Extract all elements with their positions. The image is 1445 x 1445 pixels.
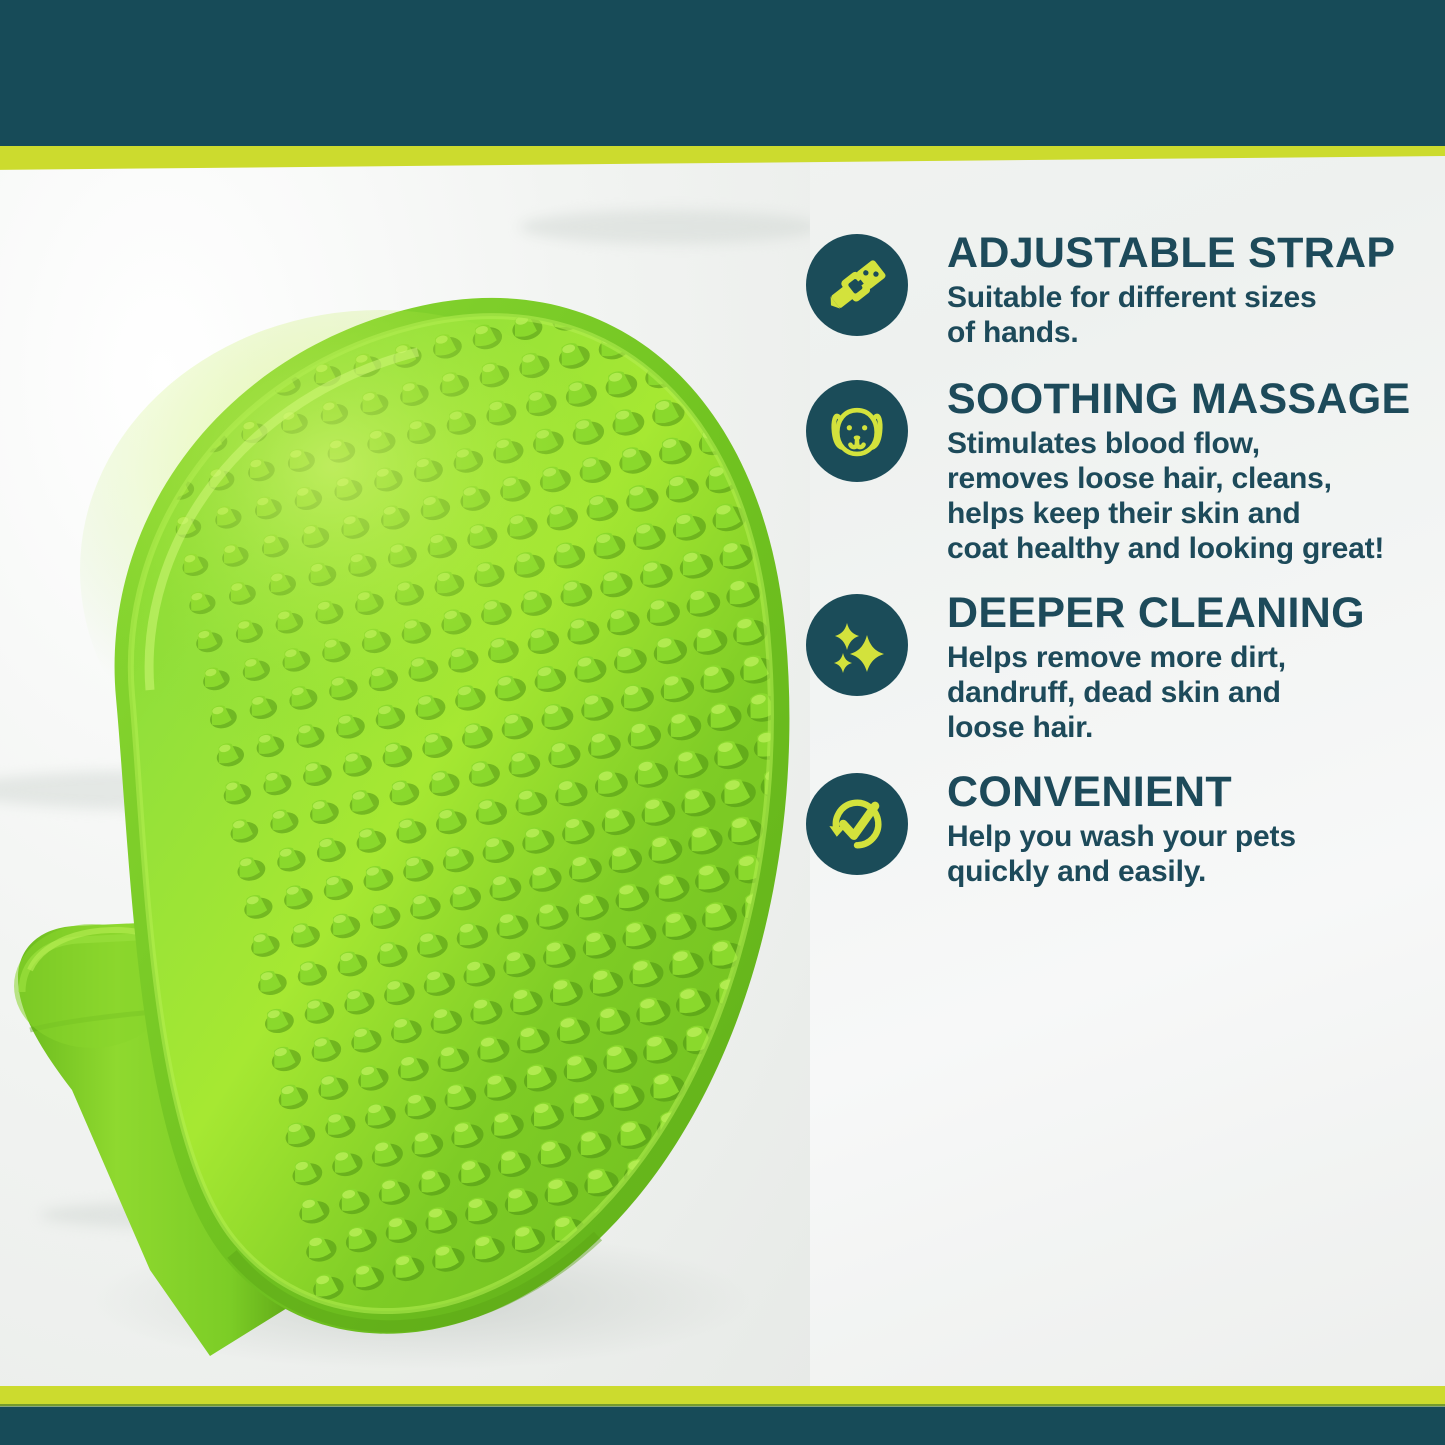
feature-body: Stimulates blood flow, removes loose hai… [947,426,1438,566]
feature-body: Helps remove more dirt, dandruff, dead s… [947,640,1438,745]
product-photo [0,150,810,1390]
sparkle-icon [806,594,908,696]
check-refresh-icon [806,773,908,875]
feature-body: Suitable for different sizes of hands. [947,280,1438,350]
feature-item-deeper-cleaning: DEEPER CLEANING Helps remove more dirt, … [806,588,1438,745]
footer-accent-stripe [0,1386,1445,1406]
feature-text-block: DEEPER CLEANING Helps remove more dirt, … [908,588,1438,745]
feature-item-adjustable-strap: ADJUSTABLE STRAP Suitable for different … [806,228,1438,350]
pet-grooming-brush-illustration [0,150,810,1390]
feature-item-convenient: CONVENIENT Help you wash your pets quick… [806,767,1438,889]
product-description-infographic: PRODUCT DESCRIPTION [0,0,1445,1445]
header-band [0,0,1445,146]
feature-item-soothing-massage: SOOTHING MASSAGE Stimulates blood flow, … [806,374,1438,566]
feature-title: SOOTHING MASSAGE [947,376,1438,423]
feature-title: CONVENIENT [947,769,1438,816]
feature-title: ADJUSTABLE STRAP [947,230,1438,277]
belt-strap-icon [806,234,908,336]
brush-pad [80,167,810,1334]
feature-text-block: SOOTHING MASSAGE Stimulates blood flow, … [908,374,1438,566]
feature-title: DEEPER CLEANING [947,590,1438,637]
feature-text-block: ADJUSTABLE STRAP Suitable for different … [908,228,1438,350]
feature-list: ADJUSTABLE STRAP Suitable for different … [806,228,1438,889]
feature-text-block: CONVENIENT Help you wash your pets quick… [908,767,1438,889]
footer-band [0,1407,1445,1445]
dog-face-icon [806,380,908,482]
feature-body: Help you wash your pets quickly and easi… [947,819,1438,889]
